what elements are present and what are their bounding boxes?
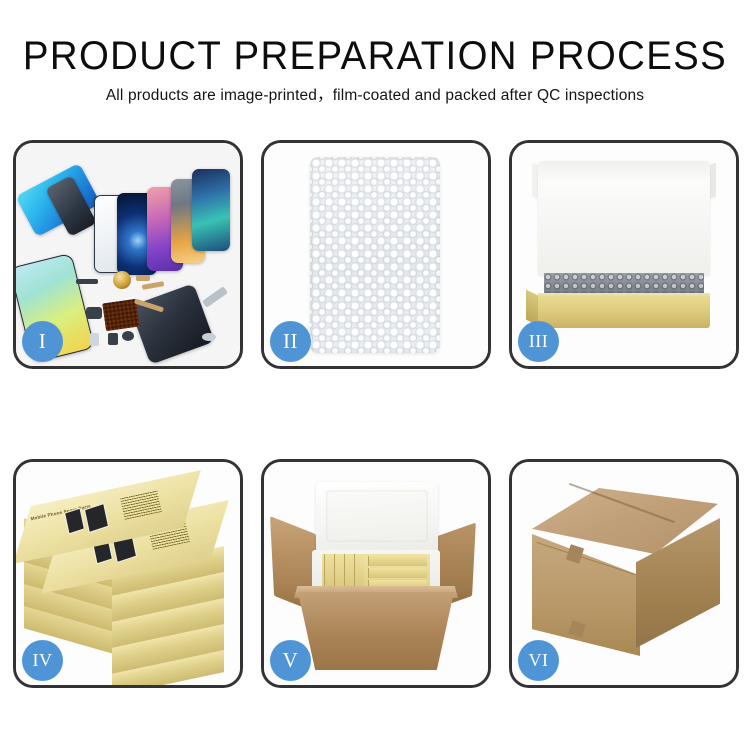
flex-cable-2: [142, 281, 165, 290]
screw-set: [202, 333, 216, 341]
step-card-6: VI: [509, 459, 739, 688]
carton-body: [298, 592, 454, 670]
yellow-box-flat-2: [368, 568, 427, 578]
product-preparation-infographic: PRODUCT PREPARATION PROCESS All products…: [0, 0, 750, 750]
small-part-4: [122, 331, 134, 341]
small-part-5: [90, 333, 99, 346]
step-badge-1: I: [22, 321, 63, 362]
bubble-wrap-bag: [310, 157, 440, 353]
step-card-5: V: [261, 459, 491, 688]
small-part-2: [86, 307, 102, 319]
carton-front-face: [532, 534, 640, 656]
yellow-box-front: [538, 298, 710, 328]
step-card-3: III: [509, 140, 739, 369]
foam-lid-top-edge: [538, 161, 710, 181]
phone-back-housing: [129, 283, 214, 365]
small-part-1: [76, 279, 98, 284]
step-card-2: II: [261, 140, 491, 369]
step-card-4: Mobile Phone Spare Parts Mobile Phone Sp…: [13, 459, 243, 688]
yellow-box-flat-1: [368, 556, 427, 566]
step-badge-4: IV: [22, 640, 63, 681]
speaker-module: [113, 271, 131, 289]
step-badge-5: V: [270, 640, 311, 681]
phone-screen-teal: [192, 169, 230, 251]
step-badge-3: III: [518, 321, 559, 362]
small-part-6: [136, 275, 150, 281]
step-badge-2: II: [270, 321, 311, 362]
steps-grid: I II: [13, 140, 739, 688]
small-part-3: [108, 333, 118, 345]
logic-board: [102, 299, 140, 331]
step-badge-6: VI: [518, 640, 559, 681]
step-card-1: I: [13, 140, 243, 369]
foam-lid-inner: [326, 490, 428, 542]
header: PRODUCT PREPARATION PROCESS All products…: [0, 34, 750, 105]
page-subtitle: All products are image-printed，film-coat…: [0, 86, 750, 105]
tweezers: [202, 286, 228, 307]
page-title: PRODUCT PREPARATION PROCESS: [15, 34, 735, 78]
